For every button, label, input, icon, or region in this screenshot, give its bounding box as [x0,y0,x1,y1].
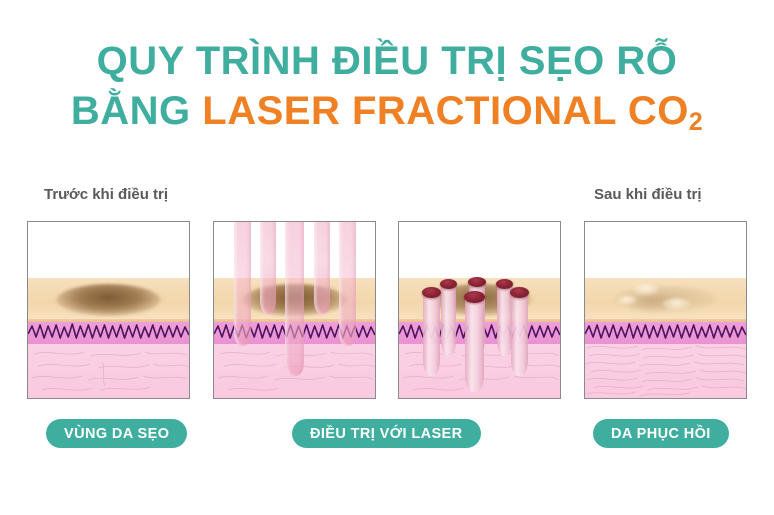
title-line-2-highlight: LASER FRACTIONAL CO [202,89,689,133]
laser-beam [285,221,304,376]
badge-scarred-area[interactable]: VÙNG DA SẸO [46,419,187,448]
treatment-channel [497,284,512,356]
skin-highlight [633,284,659,295]
air-layer [28,222,189,278]
badge-laser-treatment[interactable]: ĐIỀU TRỊ VỚI LASER [292,419,481,448]
collagen-fibers-dense [585,340,746,398]
title-line-2: BẰNG LASER FRACTIONAL CO2 [0,86,774,142]
laser-beam [314,221,330,314]
collagen-fibers [28,340,189,398]
microthermal-zone [496,279,513,289]
treatment-channel [511,292,528,376]
air-layer [399,222,560,278]
microthermal-zone [422,287,441,298]
microthermal-zone [464,291,485,303]
caption-before-treatment: Trước khi điều trị [44,186,168,203]
treatment-channel [423,292,440,376]
skin-highlight [617,296,636,305]
panel-laser-application [213,221,376,399]
microthermal-zone [468,277,486,287]
microthermal-zone [440,279,457,289]
laser-beam [339,221,356,346]
caption-after-treatment: Sau khi điều trị [594,186,702,203]
laser-beam [234,221,251,346]
scar-depression [57,284,160,316]
panel-microthermal-zones [398,221,561,399]
badge-recovered-skin[interactable]: DA PHỤC HỒI [593,419,729,448]
laser-beam [260,221,276,314]
treatment-channel [465,296,484,392]
panel-scarred-skin [27,221,190,399]
title-line-2-prefix: BẰNG [71,89,202,133]
title-line-1: QUY TRÌNH ĐIỀU TRỊ SẸO RỖ [0,36,774,86]
treatment-channel [441,284,456,356]
skin-highlight [662,298,691,310]
panel-healed-skin [584,221,747,399]
infographic-root: QUY TRÌNH ĐIỀU TRỊ SẸO RỖ BẰNG LASER FRA… [0,0,774,515]
page-title: QUY TRÌNH ĐIỀU TRỊ SẸO RỖ BẰNG LASER FRA… [0,36,774,142]
title-subscript: 2 [689,109,703,136]
microthermal-zone [510,287,529,298]
air-layer [585,222,746,278]
